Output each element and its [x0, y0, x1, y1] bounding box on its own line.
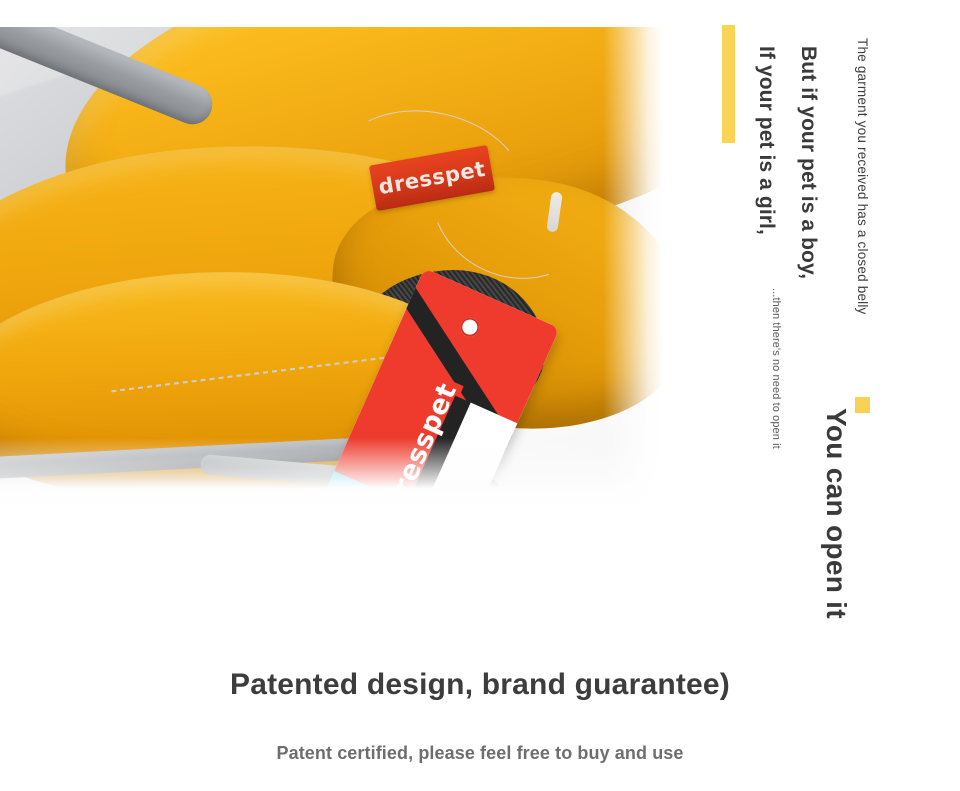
accent-square [855, 397, 870, 413]
caption-headline: Patented design, brand guarantee) [0, 668, 960, 702]
photo-bottom-fade [0, 438, 663, 508]
accent-bar [722, 25, 735, 143]
vertical-notes-panel: The garment you received has a closed be… [663, 0, 960, 560]
note-pet-is-girl: If your pet is a girl, [754, 46, 778, 235]
note-closed-belly: The garment you received has a closed be… [855, 38, 870, 315]
note-no-need-to-open: ...then there's no need to open it [770, 288, 782, 449]
product-photo: dresspet dresspet [0, 27, 663, 508]
caption-subhead: Patent certified, please feel free to bu… [0, 743, 960, 764]
note-you-can-open-it: You can open it [820, 408, 852, 619]
photo-right-fade [603, 27, 663, 508]
note-pet-is-boy: But if your pet is a boy, [796, 46, 820, 279]
product-detail-page: dresspet dresspet [0, 0, 960, 791]
